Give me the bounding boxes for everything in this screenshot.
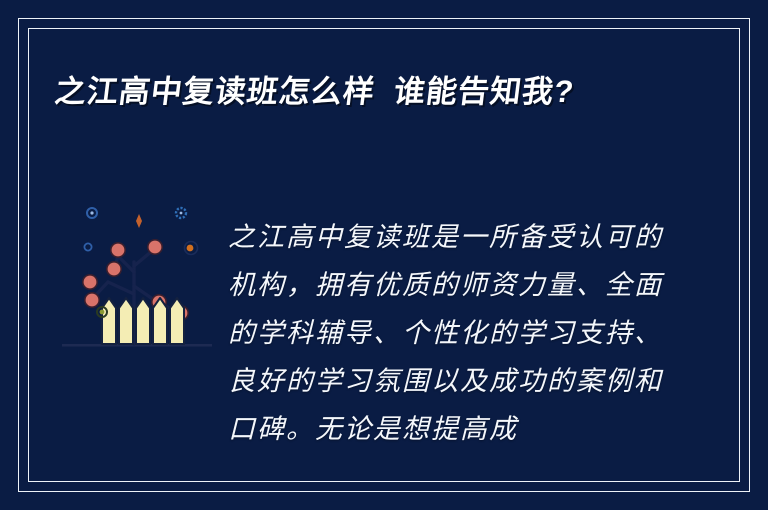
sparkle-ring-icon	[87, 208, 97, 218]
picket-fence	[102, 298, 184, 344]
sparkle-orange-dot-icon	[185, 242, 198, 255]
sparkle-diamond-icon	[136, 214, 142, 228]
sparkle-ring-small-icon	[84, 243, 91, 250]
sparkle-gear-icon	[176, 208, 186, 218]
article-body: 之江高中复读班是一所备受认可的机构，拥有优质的师资力量、全面的学科辅导、个性化的…	[228, 214, 664, 454]
poster-card: 之江高中复读班怎么样 谁能告知我?	[0, 0, 768, 510]
page-title: 之江高中复读班怎么样 谁能告知我?	[52, 66, 668, 117]
tree-and-fence-illustration	[62, 190, 212, 370]
